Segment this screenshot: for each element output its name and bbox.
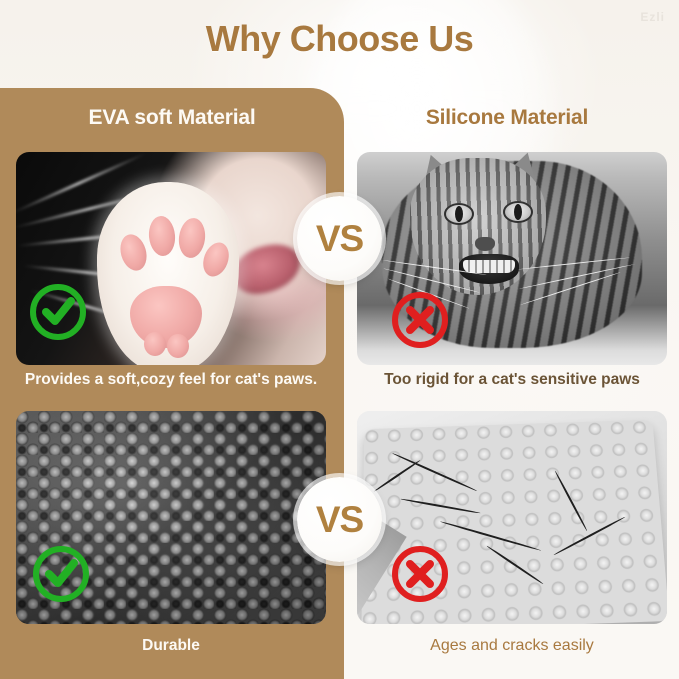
caption-silicone-rigid: Too rigid for a cat's sensitive paws [357, 370, 667, 390]
caption-eva-comfort: Provides a soft,cozy feel for cat's paws… [16, 370, 326, 390]
cross-icon [392, 292, 448, 348]
column-heading-left: EVA soft Material [0, 106, 344, 130]
vs-badge: VS [297, 196, 382, 281]
column-heading-right: Silicone Material [335, 106, 679, 130]
page-title: Why Choose Us [0, 18, 679, 60]
cross-icon [392, 546, 448, 602]
infographic-root: Ezli Why Choose Us EVA soft Material Sil… [0, 0, 679, 679]
check-icon [33, 546, 89, 602]
caption-silicone-cracks: Ages and cracks easily [357, 636, 667, 656]
caption-eva-durable: Durable [16, 636, 326, 656]
vs-badge: VS [297, 477, 382, 562]
check-icon [30, 284, 86, 340]
